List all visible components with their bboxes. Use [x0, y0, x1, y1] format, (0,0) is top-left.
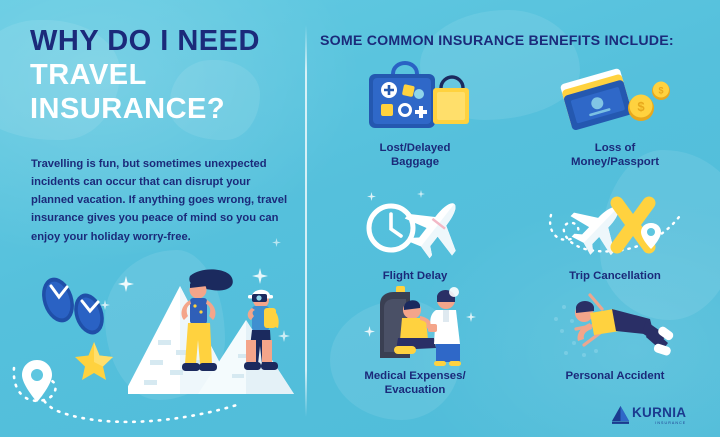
headline-line-1: WHY DO I NEED	[30, 26, 260, 56]
headline-block: WHY DO I NEED TRAVEL INSURANCE?	[30, 26, 260, 124]
headline-line-3: INSURANCE?	[30, 94, 260, 124]
benefit-label-line1: Lost/Delayed	[380, 142, 451, 154]
benefit-item-medical: Medical Expenses/ Evacuation	[315, 283, 515, 397]
left-panel: WHY DO I NEED TRAVEL INSURANCE? Travelli…	[0, 0, 305, 437]
kurnia-logo: KURNIA INSURANCE	[612, 406, 686, 425]
benefit-label-line2: Evacuation	[385, 384, 446, 396]
benefit-item-money-passport: $ $ Loss of Money/Passport	[515, 55, 715, 169]
doctor-and-patient-icon	[315, 283, 515, 367]
airplane-with-x-icon	[515, 183, 715, 267]
benefits-grid: Lost/Delayed Baggage	[313, 55, 717, 415]
benefit-label-line1: Loss of	[595, 142, 636, 154]
clock-and-airplane-icon	[315, 183, 515, 267]
infographic-poster: WHY DO I NEED TRAVEL INSURANCE? Travelli…	[0, 0, 720, 437]
falling-person-icon	[515, 283, 715, 367]
svg-text:$: $	[637, 99, 645, 114]
benefit-item-trip-cancellation: Trip Cancellation	[515, 183, 715, 283]
travelers-at-pyramids-illustration	[128, 268, 308, 433]
benefit-label-line2: Money/Passport	[571, 156, 659, 168]
benefit-item-baggage: Lost/Delayed Baggage	[315, 55, 515, 169]
benefit-label-line1: Flight Delay	[383, 270, 448, 282]
svg-text:$: $	[658, 86, 663, 96]
kurnia-logo-mark	[612, 406, 629, 425]
benefit-label-line1: Medical Expenses/	[364, 370, 465, 382]
headline-line-2: TRAVEL	[30, 60, 260, 90]
benefits-heading: SOME COMMON INSURANCE BENEFITS INCLUDE:	[320, 33, 710, 49]
flip-flops-icon	[32, 276, 118, 338]
benefit-label-line2: Baggage	[391, 156, 439, 168]
benefit-label-line1: Personal Accident	[566, 370, 665, 382]
logo-wordmark: KURNIA	[632, 406, 686, 420]
benefit-item-personal-accident: Personal Accident	[515, 283, 715, 383]
benefit-item-flight-delay: Flight Delay	[315, 183, 515, 283]
passport-and-coins-icon: $ $	[515, 55, 715, 139]
right-panel: SOME COMMON INSURANCE BENEFITS INCLUDE:	[305, 0, 720, 437]
body-paragraph: Travelling is fun, but sometimes unexpec…	[31, 155, 296, 246]
benefit-label-line1: Trip Cancellation	[569, 270, 661, 282]
suitcase-and-bag-icon	[315, 55, 515, 139]
logo-subtitle: INSURANCE	[632, 421, 686, 425]
